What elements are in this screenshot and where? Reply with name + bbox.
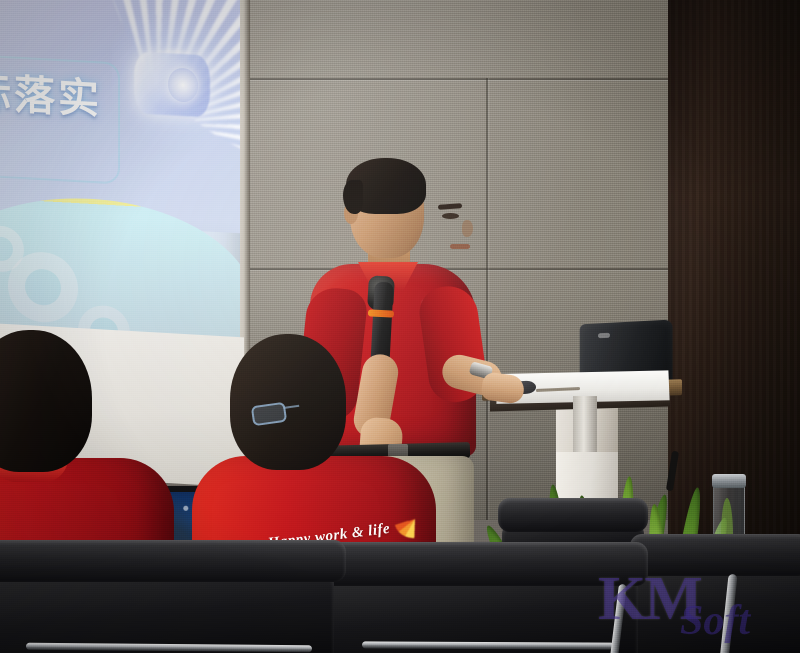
chair-headrest-roll xyxy=(0,540,346,582)
chair-chrome-trim xyxy=(362,641,614,649)
screen-glare-overlay xyxy=(0,0,240,373)
chair-headrest-roll xyxy=(498,498,648,532)
presenter-eyebrow xyxy=(438,203,462,210)
audience-head-back xyxy=(230,334,346,470)
laptop-latch-detail xyxy=(598,333,610,338)
chair-right xyxy=(630,534,800,653)
audience-head-back xyxy=(0,330,92,472)
bottle-cap xyxy=(712,474,746,488)
projection-screen: 标落实 xyxy=(0,0,240,373)
chair-headrest-roll xyxy=(318,542,648,586)
chair-backrest xyxy=(0,574,334,653)
chair-backrest xyxy=(634,568,800,653)
presenter-eye xyxy=(442,213,459,219)
chair-left xyxy=(0,540,346,653)
eyeglasses-icon xyxy=(251,402,287,427)
microphone-color-band xyxy=(368,309,394,317)
presenter-hair xyxy=(346,158,426,214)
chair-headrest-roll xyxy=(630,534,800,576)
lectern-support-column xyxy=(573,396,597,458)
chair-center xyxy=(318,542,648,653)
presenter-mouth xyxy=(450,244,470,249)
presenter-nose xyxy=(462,220,473,237)
conference-presentation-photo: 标落实 xyxy=(0,0,800,653)
